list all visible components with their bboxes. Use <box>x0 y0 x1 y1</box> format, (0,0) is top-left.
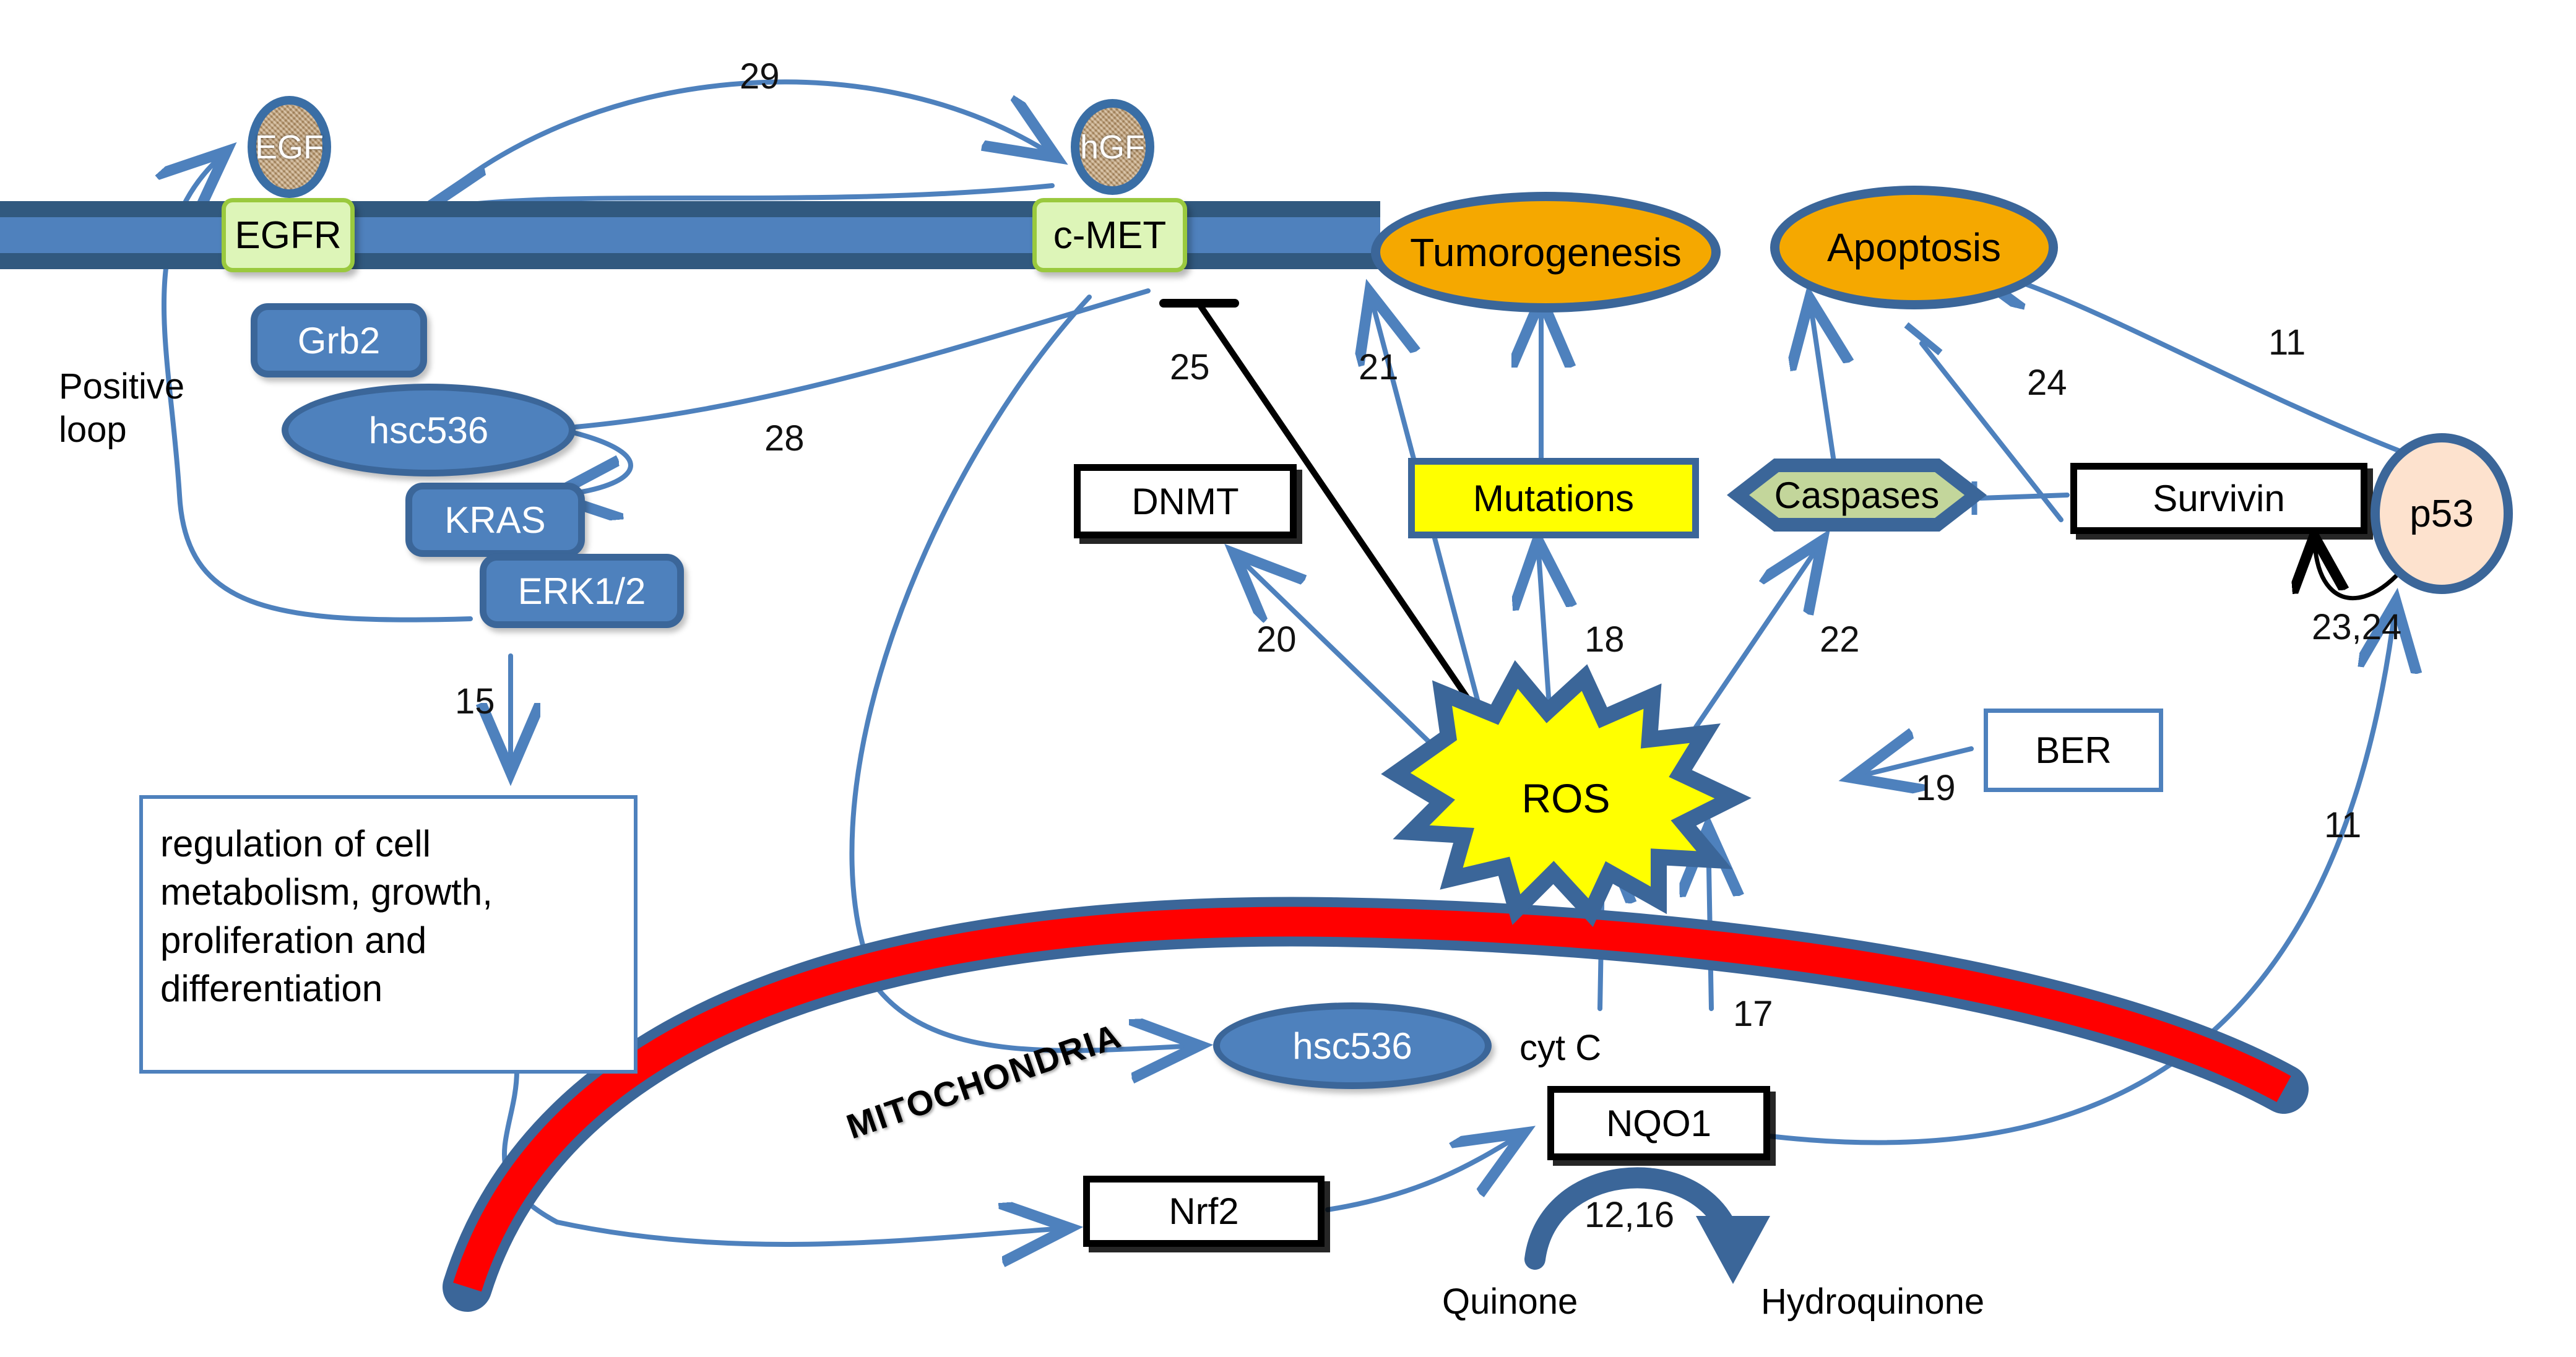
caspases-node[interactable]: Caspases <box>1738 465 1976 525</box>
caspases-label: Caspases <box>1774 474 1940 517</box>
hsc536-cytoplasmic-label: hsc536 <box>369 409 488 452</box>
egfr-receptor[interactable]: EGFR <box>222 198 355 272</box>
edge-label-23-24: 23,24 <box>2312 610 2401 645</box>
hsc536-cytoplasmic[interactable]: hsc536 <box>282 384 576 476</box>
edge-label-28: 28 <box>764 421 805 457</box>
grb2-protein[interactable]: Grb2 <box>251 303 427 377</box>
kras-protein[interactable]: KRAS <box>405 483 585 557</box>
egf-label: EGF <box>255 128 324 166</box>
edge-label-20: 20 <box>1256 622 1297 658</box>
edge-label-15: 15 <box>455 684 495 720</box>
positive-loop-label: Positive loop <box>59 365 244 451</box>
edge-label-11-top: 11 <box>2268 325 2306 361</box>
regulation-textbox: regulation of cell metabolism, growth, p… <box>139 795 638 1074</box>
survivin-box[interactable]: Survivin <box>2070 463 2367 534</box>
egf-ligand: EGF <box>248 96 331 198</box>
pathway-diagram: EGF EGFR hGF c-MET Grb2 hsc536 KRAS ERK1… <box>0 0 2576 1357</box>
ber-box[interactable]: BER <box>1984 709 2163 792</box>
nrf2-label: Nrf2 <box>1169 1190 1238 1233</box>
edge-label-21: 21 <box>1359 350 1399 386</box>
kras-label: KRAS <box>444 499 545 541</box>
hsc536-mitochondrial-label: hsc536 <box>1292 1025 1412 1067</box>
survivin-label: Survivin <box>2153 477 2284 520</box>
nrf2-box[interactable]: Nrf2 <box>1083 1176 1325 1247</box>
regulation-text: regulation of cell metabolism, growth, p… <box>160 823 493 1009</box>
p53-label: p53 <box>2410 492 2473 536</box>
edge-label-18: 18 <box>1584 622 1625 658</box>
edge-label-29: 29 <box>740 59 780 95</box>
dnmt-box[interactable]: DNMT <box>1074 464 1297 538</box>
erk12-label: ERK1/2 <box>518 570 646 613</box>
tumorogenesis-label: Tumorogenesis <box>1410 230 1682 275</box>
dnmt-label: DNMT <box>1131 480 1238 523</box>
quinone-text: Quinone <box>1442 1282 1578 1322</box>
mutations-box[interactable]: Mutations <box>1408 458 1699 538</box>
edge-label-17: 17 <box>1733 996 1773 1032</box>
mitochondria-label: MITOCHONDRIA <box>841 1015 1126 1147</box>
positive-loop-text: Positive loop <box>59 366 184 450</box>
hydroquinone-text: Hydroquinone <box>1761 1282 1984 1322</box>
egfr-label: EGFR <box>235 213 341 257</box>
cmet-label: c-MET <box>1053 213 1167 257</box>
apoptosis-outcome[interactable]: Apoptosis <box>1770 186 2058 309</box>
mitochondria-text: MITOCHONDRIA <box>842 1015 1126 1146</box>
cyt-c-text: cyt C <box>1519 1028 1601 1068</box>
edge-label-24: 24 <box>2027 365 2067 401</box>
cyt-c-label: cyt C <box>1519 1027 1601 1069</box>
edge-label-11-bottom: 11 <box>2324 808 2361 843</box>
p53-node[interactable]: p53 <box>2371 433 2513 594</box>
nqo1-box[interactable]: NQO1 <box>1547 1086 1770 1160</box>
edge-label-25: 25 <box>1170 350 1210 386</box>
hgf-label: hGF <box>1080 128 1145 166</box>
edge-label-12-16: 12,16 <box>1584 1197 1674 1233</box>
hgf-ligand: hGF <box>1071 99 1154 195</box>
tumorogenesis-outcome[interactable]: Tumorogenesis <box>1371 192 1721 312</box>
erk12-protein[interactable]: ERK1/2 <box>480 554 684 628</box>
nqo1-label: NQO1 <box>1606 1102 1711 1145</box>
mutations-label: Mutations <box>1473 477 1634 520</box>
cmet-receptor[interactable]: c-MET <box>1032 198 1187 272</box>
grb2-label: Grb2 <box>298 319 380 362</box>
hydroquinone-label: Hydroquinone <box>1761 1281 1984 1322</box>
ros-node[interactable]: ROS <box>1473 761 1659 835</box>
ber-label: BER <box>2035 729 2111 772</box>
ros-label: ROS <box>1521 775 1610 822</box>
hsc536-mitochondrial[interactable]: hsc536 <box>1213 1002 1492 1089</box>
quinone-label: Quinone <box>1442 1281 1578 1322</box>
apoptosis-label: Apoptosis <box>1827 225 2001 270</box>
edge-label-22: 22 <box>1820 622 1860 658</box>
edge-label-19: 19 <box>1916 770 1956 806</box>
